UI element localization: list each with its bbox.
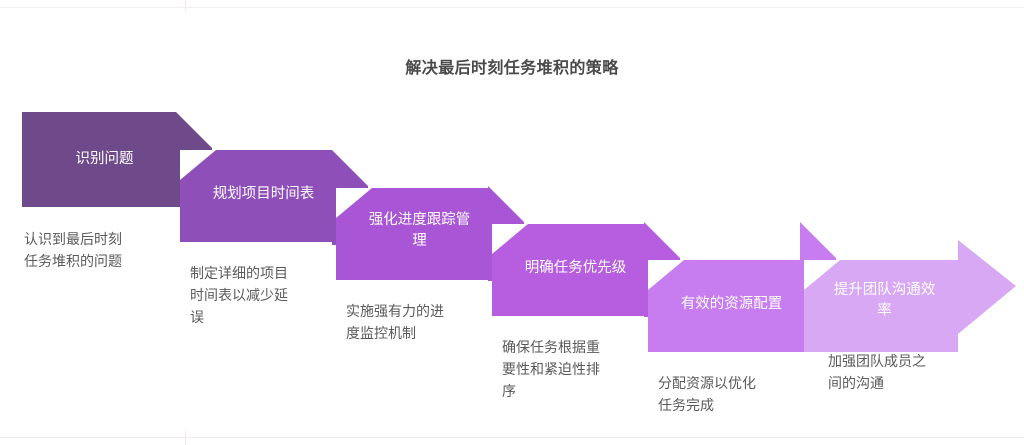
panel-divider-bottom [0,437,1024,438]
step-1-description: 认识到最后时刻 任务堆积的问题 [24,228,184,272]
step-2-description: 制定详细的项目 时间表以减少延 误 [190,262,345,328]
panel-divider-vertical-bottom [185,430,186,445]
page-title: 解决最后时刻任务堆积的策略 [0,54,1024,78]
step-3-description: 实施强有力的进 度监控机制 [346,300,501,344]
step-6-label: 提升团队沟通效 率 [812,280,957,322]
panel-divider-top [0,7,1024,8]
step-5-description: 分配资源以优化 任务完成 [658,372,813,416]
step-1-label: 识别问题 [22,149,187,170]
step-4-label: 明确任务优先级 [498,258,653,279]
step-2-label: 规划项目时间表 [186,184,341,205]
step-4-description: 确保任务根据重 要性和紧迫性排 序 [502,336,657,402]
step-6-description: 加强团队成员之 间的沟通 [828,350,983,394]
diagram-canvas: 解决最后时刻任务堆积的策略 识别问题 认识到最后时刻 任务堆积的问题 规划项目时… [0,0,1024,445]
step-5-label: 有效的资源配置 [654,294,809,315]
panel-divider-vertical-top [185,0,186,12]
step-3-label: 强化进度跟踪管 理 [342,210,497,252]
